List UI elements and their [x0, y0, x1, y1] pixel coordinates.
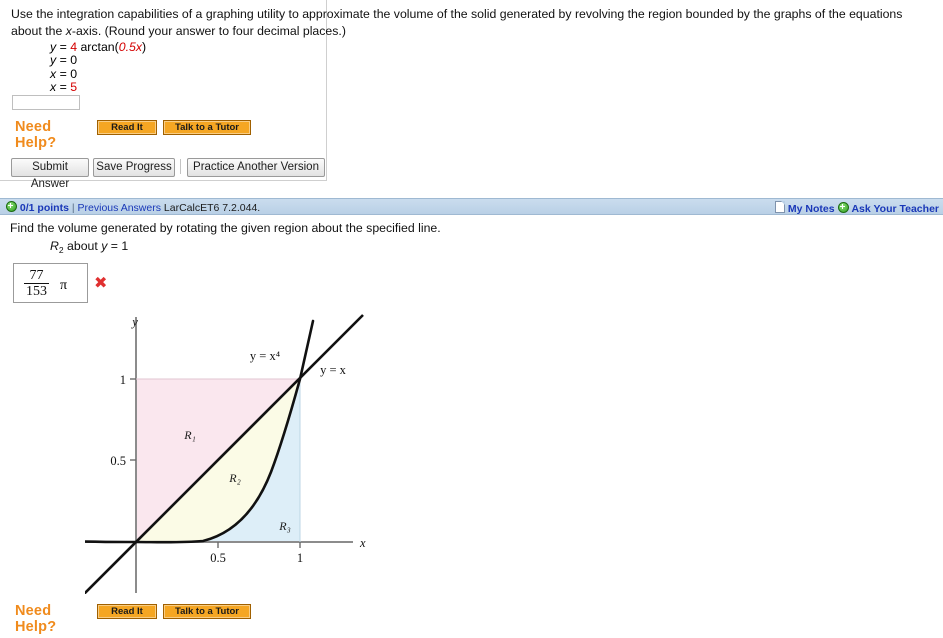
equation-row-4: x = 5 — [50, 81, 146, 94]
y-tick-label-0.5: 0.5 — [110, 454, 126, 468]
equation-2-eq: = — [60, 53, 67, 67]
my-notes-link[interactable]: My Notes — [788, 203, 835, 215]
y-axis-label: y — [130, 315, 138, 329]
region-label-r1: R₁ — [183, 428, 196, 442]
question-2-header-bar: 0/1 points | Previous Answers LarCalcET6… — [0, 198, 943, 215]
ask-teacher-icon[interactable] — [838, 202, 849, 213]
need-help-label: Need Help? — [15, 119, 56, 151]
practice-another-version-button[interactable]: Practice Another Version — [187, 158, 325, 177]
equation-3-eq: = — [60, 67, 67, 81]
points-badge: 0/1 points — [20, 202, 69, 214]
expand-icon[interactable] — [6, 201, 17, 212]
prompt-text-part2: -axis. (Round your answer to four decima… — [72, 24, 346, 38]
equation-1-eq: = — [60, 40, 67, 54]
question-2-header-left: 0/1 points | Previous Answers LarCalcET6… — [6, 201, 260, 214]
annotation-y-equals-x: y = x — [320, 363, 347, 377]
submit-answer-button[interactable]: Submit Answer — [11, 158, 89, 177]
equation-row-3: x = 0 — [50, 68, 146, 81]
annotation-y-equals-x-fourth: y = x⁴ — [250, 349, 280, 363]
notes-page-icon[interactable] — [775, 201, 785, 213]
question-1-card: Use the integration capabilities of a gr… — [0, 0, 327, 181]
equation-1-coefficient: 4 — [70, 40, 77, 54]
question-1-equation-list: y = 4 arctan(0.5x) y = 0 x = 0 x = 5 — [50, 41, 146, 95]
question-2-answer-box[interactable]: 77 153 π — [13, 263, 88, 303]
equation-1-argument: 0.5x — [119, 40, 142, 54]
fraction: 77 153 — [24, 269, 49, 298]
equation-2-lhs: y — [50, 53, 56, 67]
y-tick-label-1: 1 — [120, 373, 126, 387]
toolbar-divider — [180, 159, 181, 174]
equation-1-fn: arctan( — [77, 40, 119, 54]
equation-1-close-paren: ) — [142, 40, 146, 54]
region-symbol: R — [50, 239, 59, 253]
save-progress-button[interactable]: Save Progress — [93, 158, 175, 177]
read-it-button-2[interactable]: Read It — [97, 604, 157, 619]
subject-about: about — [64, 239, 102, 253]
read-it-button[interactable]: Read It — [97, 120, 157, 135]
talk-to-a-tutor-button[interactable]: Talk to a Tutor — [163, 120, 251, 135]
region-label-r2: R₂ — [228, 471, 241, 485]
fraction-numerator: 77 — [24, 269, 49, 282]
equation-4-eq: = — [60, 80, 67, 94]
question-2-subject: R2 about y = 1 — [50, 239, 128, 255]
equation-3-lhs: x — [50, 67, 56, 81]
need-help-label-2: Need Help? — [15, 603, 56, 635]
incorrect-status-icon: ✖ — [94, 275, 107, 291]
exercise-id: LarCalcET6 7.2.044. — [164, 202, 260, 214]
equation-4-rhs: 5 — [70, 80, 77, 94]
equation-4-lhs: x — [50, 80, 56, 94]
x-axis-label: x — [359, 536, 366, 550]
equation-2-rhs: 0 — [70, 53, 77, 67]
equation-1-lhs: y — [50, 40, 56, 54]
region-label-r3: R₃ — [278, 519, 291, 533]
fraction-denominator: 153 — [24, 285, 49, 298]
equation-3-rhs: 0 — [70, 67, 77, 81]
graph-svg: 0.5 1 0.5 1 x y R₁ R₂ R₃ y = x⁴ y = x — [85, 312, 375, 594]
question-2-instruction: Find the volume generated by rotating th… — [10, 221, 441, 235]
question-1-prompt: Use the integration capabilities of a gr… — [11, 6, 929, 40]
question-2-header-right: My Notes Ask Your Teacher — [775, 201, 939, 215]
x-tick-label-0.5: 0.5 — [210, 551, 226, 565]
subject-value: = 1 — [107, 239, 128, 253]
equation-row-2: y = 0 — [50, 54, 146, 67]
region-graph: 0.5 1 0.5 1 x y R₁ R₂ R₃ y = x⁴ y = x — [85, 312, 375, 594]
equation-row-1: y = 4 arctan(0.5x) — [50, 41, 146, 54]
answer-input[interactable] — [12, 95, 80, 110]
ask-your-teacher-link[interactable]: Ask Your Teacher — [851, 203, 939, 215]
header-separator: | — [72, 202, 75, 214]
talk-to-a-tutor-button-2[interactable]: Talk to a Tutor — [163, 604, 251, 619]
pi-symbol: π — [60, 278, 67, 294]
x-tick-label-1: 1 — [297, 551, 303, 565]
previous-answers-link[interactable]: Previous Answers — [78, 202, 161, 214]
